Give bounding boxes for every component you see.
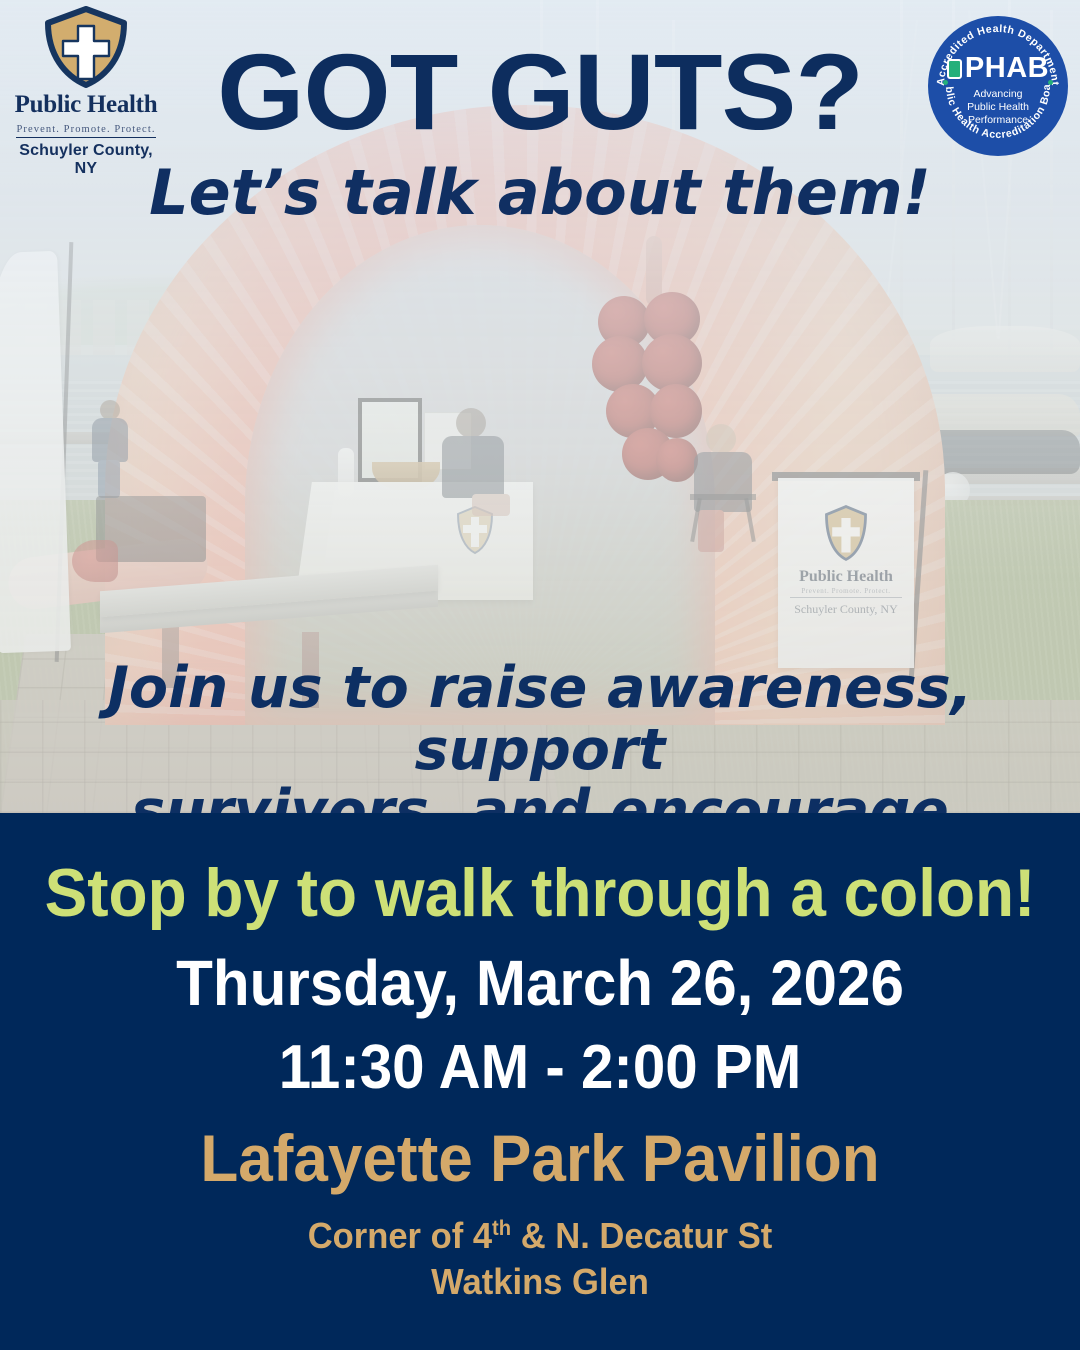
logo-motto: Prevent. Promote. Protect. [16, 124, 155, 138]
boat-cover [930, 326, 1080, 372]
phab-accreditation-seal: Accredited Health Department Public Heal… [928, 16, 1068, 156]
address-suffix: & N. Decatur St [511, 1215, 772, 1256]
address-ordinal: th [492, 1217, 511, 1240]
banner-shield-logo-icon [823, 504, 869, 562]
event-address: Corner of 4th & N. Decatur St Watkins Gl… [22, 1213, 1059, 1305]
event-details-panel: Stop by to walk through a colon! Thursda… [0, 813, 1080, 1350]
event-venue: Lafayette Park Pavilion [32, 1125, 1047, 1191]
address-prefix: Corner of 4 [308, 1215, 492, 1256]
banner-name: Public Health [778, 568, 914, 586]
phab-tagline-line-1: Advancing [928, 88, 1068, 101]
tagline-line-1: Join us to raise awareness, support [58, 658, 1022, 781]
event-street-address: Corner of 4th & N. Decatur St [22, 1213, 1059, 1259]
event-city: Watkins Glen [22, 1259, 1059, 1305]
phab-tagline-line-3: Performance [928, 114, 1068, 127]
inflation-blower [72, 540, 118, 582]
phab-acronym: PHAB [965, 54, 1049, 83]
event-time: 11:30 AM - 2:00 PM [32, 1037, 1047, 1099]
phab-tagline-line-2: Public Health [928, 101, 1068, 114]
banner-county: Schuyler County, NY [778, 602, 914, 617]
visitor-by-water [88, 400, 132, 500]
logo-county: Schuyler County, NY [8, 142, 164, 178]
shield-icon [43, 6, 129, 88]
phab-center-lockup: PHAB Advancing Public Health Performance [928, 54, 1068, 127]
phab-tagline: Advancing Public Health Performance [928, 88, 1068, 127]
banner-motto: Prevent. Promote. Protect. [790, 587, 902, 598]
event-poster: Public Health Prevent. Promote. Protect.… [0, 0, 1080, 1350]
event-call-to-action: Stop by to walk through a colon! [32, 813, 1047, 927]
event-date: Thursday, March 26, 2026 [32, 951, 1047, 1015]
public-health-retractable-banner: Public Health Prevent. Promote. Protect.… [778, 478, 914, 668]
seated-visitor [432, 408, 512, 528]
phab-mark-icon [947, 59, 962, 79]
phab-wordmark-row: PHAB [928, 54, 1068, 83]
public-health-logo: Public Health Prevent. Promote. Protect.… [8, 6, 164, 152]
logo-wordmark: Public Health [8, 91, 164, 119]
